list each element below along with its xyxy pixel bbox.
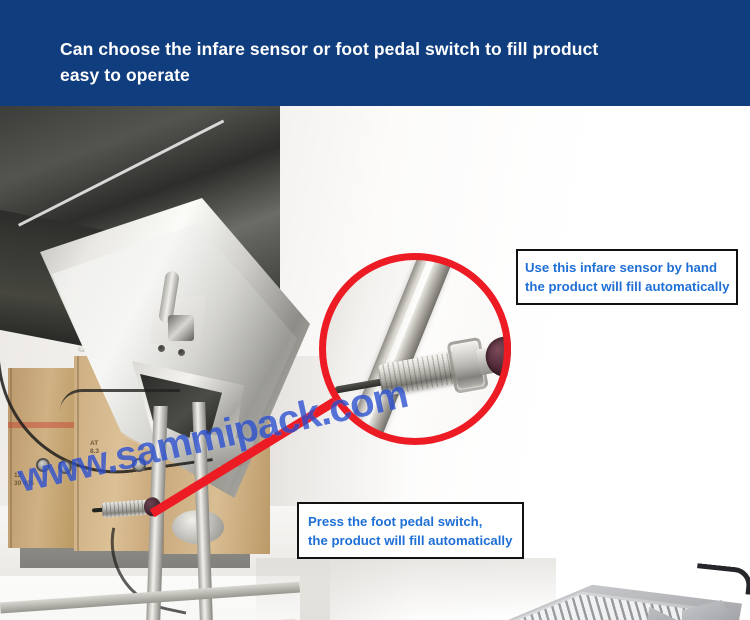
banner-title: Can choose the infare sensor or foot ped… — [60, 36, 740, 88]
product-photo: 1230 435 AT8.3 大容量 — [0, 106, 750, 620]
callout-foot-pedal: Press the foot pedal switch, the product… — [297, 502, 524, 559]
foot-pedal-switch — [446, 562, 750, 620]
header-banner: Can choose the infare sensor or foot ped… — [0, 0, 750, 106]
callout-infrared-sensor-text: Use this infare sensor by hand the produ… — [518, 258, 729, 296]
pedal-cable — [695, 563, 750, 595]
callout-infrared-sensor: Use this infare sensor by hand the produ… — [516, 249, 738, 305]
callout-foot-pedal-text: Press the foot pedal switch, the product… — [299, 512, 512, 550]
product-info-image: Can choose the infare sensor or foot ped… — [0, 0, 750, 620]
